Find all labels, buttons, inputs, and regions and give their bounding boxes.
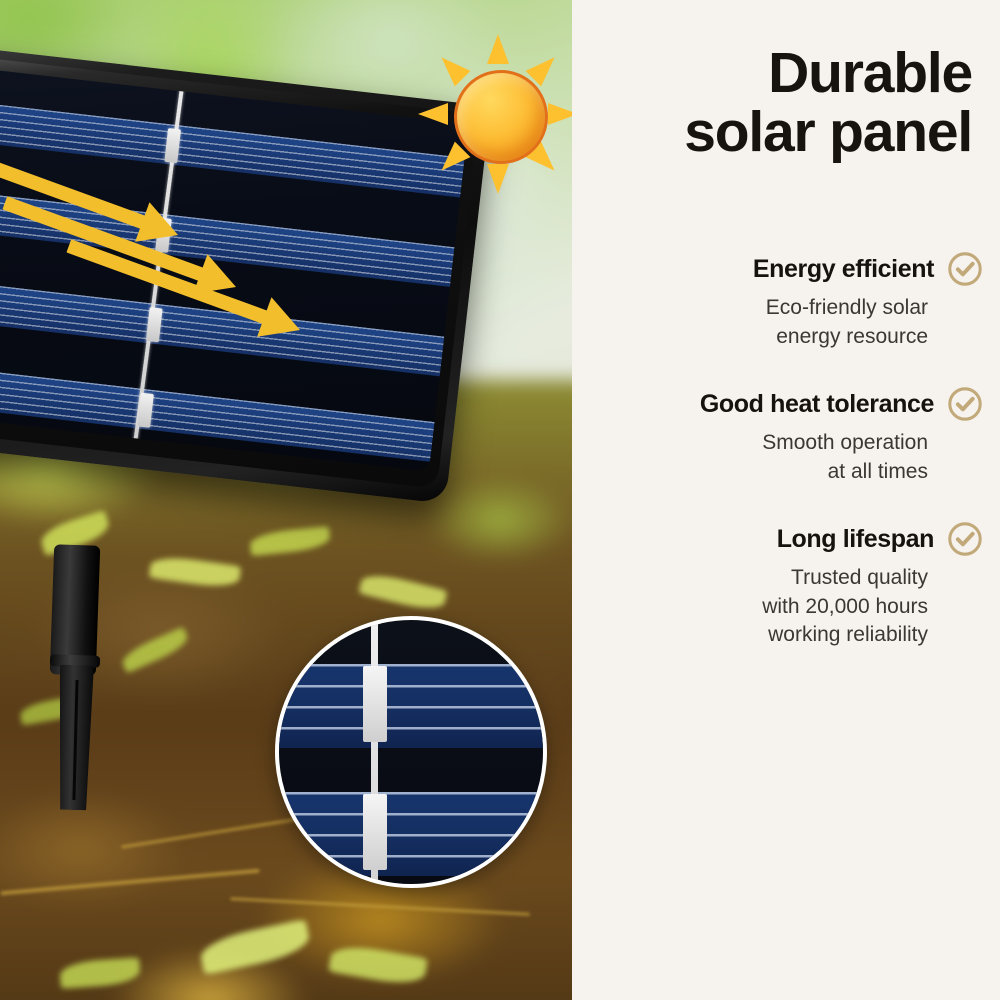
feature-title: Good heat tolerance <box>700 390 934 419</box>
sun-ray <box>487 34 509 64</box>
sun-icon <box>418 34 578 194</box>
feature-description-line: energy resource <box>572 323 928 352</box>
page-title: Durable solar panel <box>592 46 972 161</box>
sun-ray <box>487 164 509 194</box>
sun-disc <box>454 70 548 164</box>
feature-description: Trusted quality with 20,000 hours workin… <box>572 564 1000 650</box>
feature-description-line: working reliability <box>572 621 928 650</box>
feature-item: Energy efficient Eco-friendly solar ener… <box>572 250 1000 351</box>
feature-description-line: Eco-friendly solar <box>572 294 928 323</box>
closeup-solder-tab <box>363 794 387 870</box>
feature-description: Eco-friendly solar energy resource <box>572 294 1000 351</box>
closeup-solder-tab <box>363 666 387 742</box>
feature-item: Good heat tolerance Smooth operation at … <box>572 385 1000 486</box>
feature-description-line: with 20,000 hours <box>572 593 928 622</box>
feature-heading-row: Good heat tolerance <box>572 385 1000 423</box>
feature-title: Energy efficient <box>753 255 934 284</box>
feature-description: Smooth operation at all times <box>572 429 1000 486</box>
title-line-1: Durable <box>768 41 972 105</box>
feature-description-line: Smooth operation <box>572 429 928 458</box>
closeup-cell-strip <box>275 792 547 876</box>
feature-title: Long lifespan <box>777 525 934 554</box>
feature-heading-row: Long lifespan <box>572 520 1000 558</box>
feature-item: Long lifespan Trusted quality with 20,00… <box>572 520 1000 650</box>
feature-description-line: at all times <box>572 458 928 487</box>
info-panel: Durable solar panel Energy efficient Eco… <box>572 0 1000 1000</box>
check-circle-icon <box>946 520 984 558</box>
check-circle-icon <box>946 250 984 288</box>
product-feature-image: Durable solar panel Energy efficient Eco… <box>0 0 1000 1000</box>
feature-description-line: Trusted quality <box>572 564 928 593</box>
title-line-2: solar panel <box>592 105 972 160</box>
feature-list: Energy efficient Eco-friendly solar ener… <box>572 250 1000 684</box>
sun-ray <box>418 103 448 125</box>
sun-ray <box>434 50 471 87</box>
closeup-cell-strip <box>275 664 547 748</box>
check-circle-icon <box>946 385 984 423</box>
feature-heading-row: Energy efficient <box>572 250 1000 288</box>
solar-cell-closeup-circle <box>275 616 547 888</box>
